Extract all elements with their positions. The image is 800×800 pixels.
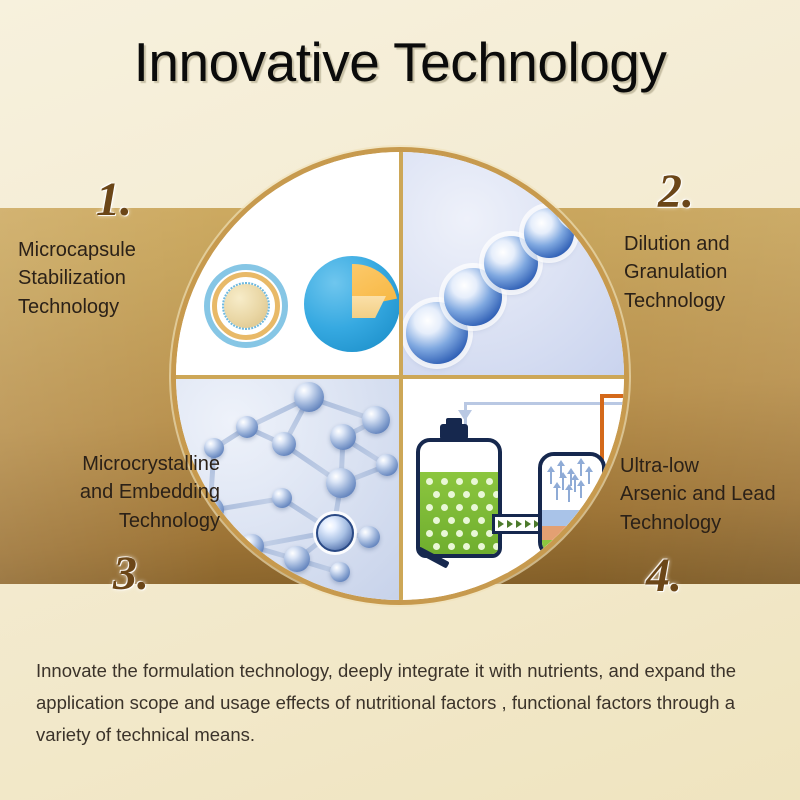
tank-bubble xyxy=(478,491,485,498)
item-2-label-line-2: Granulation xyxy=(624,258,800,286)
flow-arrow-icon xyxy=(507,520,513,528)
tank-bubble xyxy=(471,478,478,485)
molecular-atom xyxy=(362,406,390,434)
tank-bubble xyxy=(456,530,463,537)
molecular-atom xyxy=(272,488,292,508)
vapor-arrow-icon xyxy=(580,484,582,498)
tank-bubble xyxy=(463,491,470,498)
molecular-atom xyxy=(284,546,310,572)
vapor-arrow-icon xyxy=(574,478,576,492)
molecular-atom xyxy=(240,534,264,558)
molecular-atom xyxy=(326,468,356,498)
molecular-atom xyxy=(236,416,258,438)
flow-arrow-icon xyxy=(525,520,531,528)
item-3-number: 3. xyxy=(113,546,149,601)
item-1-label: Microcapsule Stabilization Technology xyxy=(18,236,228,321)
tank-bubble xyxy=(463,543,470,550)
tank-bubble xyxy=(426,530,433,537)
molecular-atom-highlighted xyxy=(316,514,354,552)
separator-vessel xyxy=(538,452,606,558)
item-1-label-line-3: Technology xyxy=(18,293,228,321)
process-diagram-icon xyxy=(400,376,624,600)
tank-bubble xyxy=(448,491,455,498)
item-2-label-line-3: Technology xyxy=(624,287,800,315)
molecular-atom xyxy=(330,562,350,582)
tank-bubble xyxy=(426,478,433,485)
item-4-label: Ultra-low Arsenic and Lead Technology xyxy=(620,452,800,537)
item-3-label: Microcrystalline and Embedding Technolog… xyxy=(10,450,220,535)
molecular-atom xyxy=(272,432,296,456)
vapor-arrow-icon xyxy=(550,470,552,484)
granule xyxy=(560,182,606,228)
tank-bubble xyxy=(478,543,485,550)
cutaway-sphere-icon xyxy=(304,256,400,352)
tank-bubble xyxy=(471,530,478,537)
vapor-arrow-icon xyxy=(562,476,564,490)
molecular-atom xyxy=(358,526,380,548)
item-3-label-line-1: Microcrystalline xyxy=(10,450,220,478)
tank-bubble xyxy=(486,478,493,485)
tank-bubble xyxy=(478,517,485,524)
vapor-arrow-icon xyxy=(568,488,570,502)
footer-description: Innovate the formulation technology, dee… xyxy=(36,655,772,750)
item-1-label-line-1: Microcapsule xyxy=(18,236,228,264)
tank-bubble xyxy=(433,491,440,498)
molecular-atom xyxy=(216,566,238,588)
item-4-label-line-3: Technology xyxy=(620,509,800,537)
molecular-atom xyxy=(330,424,356,450)
granule-chain-icon xyxy=(400,152,624,376)
tank-bubble xyxy=(441,504,448,511)
vessel-aqueous-phase xyxy=(542,510,602,526)
vessel-organic-phase xyxy=(542,526,602,540)
technology-wheel xyxy=(176,152,624,600)
flow-arrow-icon xyxy=(498,520,504,528)
item-3-label-line-2: and Embedding xyxy=(10,478,220,506)
tank-bubble xyxy=(486,504,493,511)
item-4-label-line-2: Arsenic and Lead xyxy=(620,480,800,508)
divider-horizontal xyxy=(176,375,624,379)
molecular-atom xyxy=(294,382,324,412)
tank-bubble xyxy=(456,478,463,485)
molecular-atom xyxy=(376,454,398,476)
tank-bubble xyxy=(441,530,448,537)
tank-bubble xyxy=(426,504,433,511)
tank-bubble xyxy=(456,504,463,511)
microcapsule-core xyxy=(224,284,268,328)
tank-bubble xyxy=(448,517,455,524)
poster-root: Innovative Technology xyxy=(0,0,800,800)
flow-arrow-icon xyxy=(516,520,522,528)
vapor-arrow-icon xyxy=(588,470,590,484)
circle-frame xyxy=(176,152,624,600)
vapor-arrow-icon xyxy=(556,486,558,500)
quadrant-arsenic-lead[interactable] xyxy=(400,376,624,600)
tank-bubble xyxy=(493,543,500,550)
item-3-label-line-3: Technology xyxy=(10,507,220,535)
tank-liquid xyxy=(420,472,498,554)
tank-bubble xyxy=(433,517,440,524)
quadrant-granulation[interactable] xyxy=(400,152,624,376)
item-1-label-line-2: Stabilization xyxy=(18,264,228,292)
tank-bubble xyxy=(471,504,478,511)
reactor-tank xyxy=(416,438,502,558)
item-2-label: Dilution and Granulation Technology xyxy=(624,230,800,315)
vessel-residue-phase xyxy=(542,540,602,554)
item-2-label-line-1: Dilution and xyxy=(624,230,800,258)
tank-bubble xyxy=(441,478,448,485)
vapor-arrow-icon xyxy=(580,462,582,476)
tank-bubble xyxy=(448,543,455,550)
tank-bubble xyxy=(463,517,470,524)
item-4-number: 4. xyxy=(646,548,682,603)
item-4-label-line-1: Ultra-low xyxy=(620,452,800,480)
tank-bubble xyxy=(433,543,440,550)
page-title: Innovative Technology xyxy=(0,34,800,92)
item-2-number: 2. xyxy=(658,164,694,219)
item-1-number: 1. xyxy=(96,172,132,227)
tank-bubble xyxy=(493,491,500,498)
